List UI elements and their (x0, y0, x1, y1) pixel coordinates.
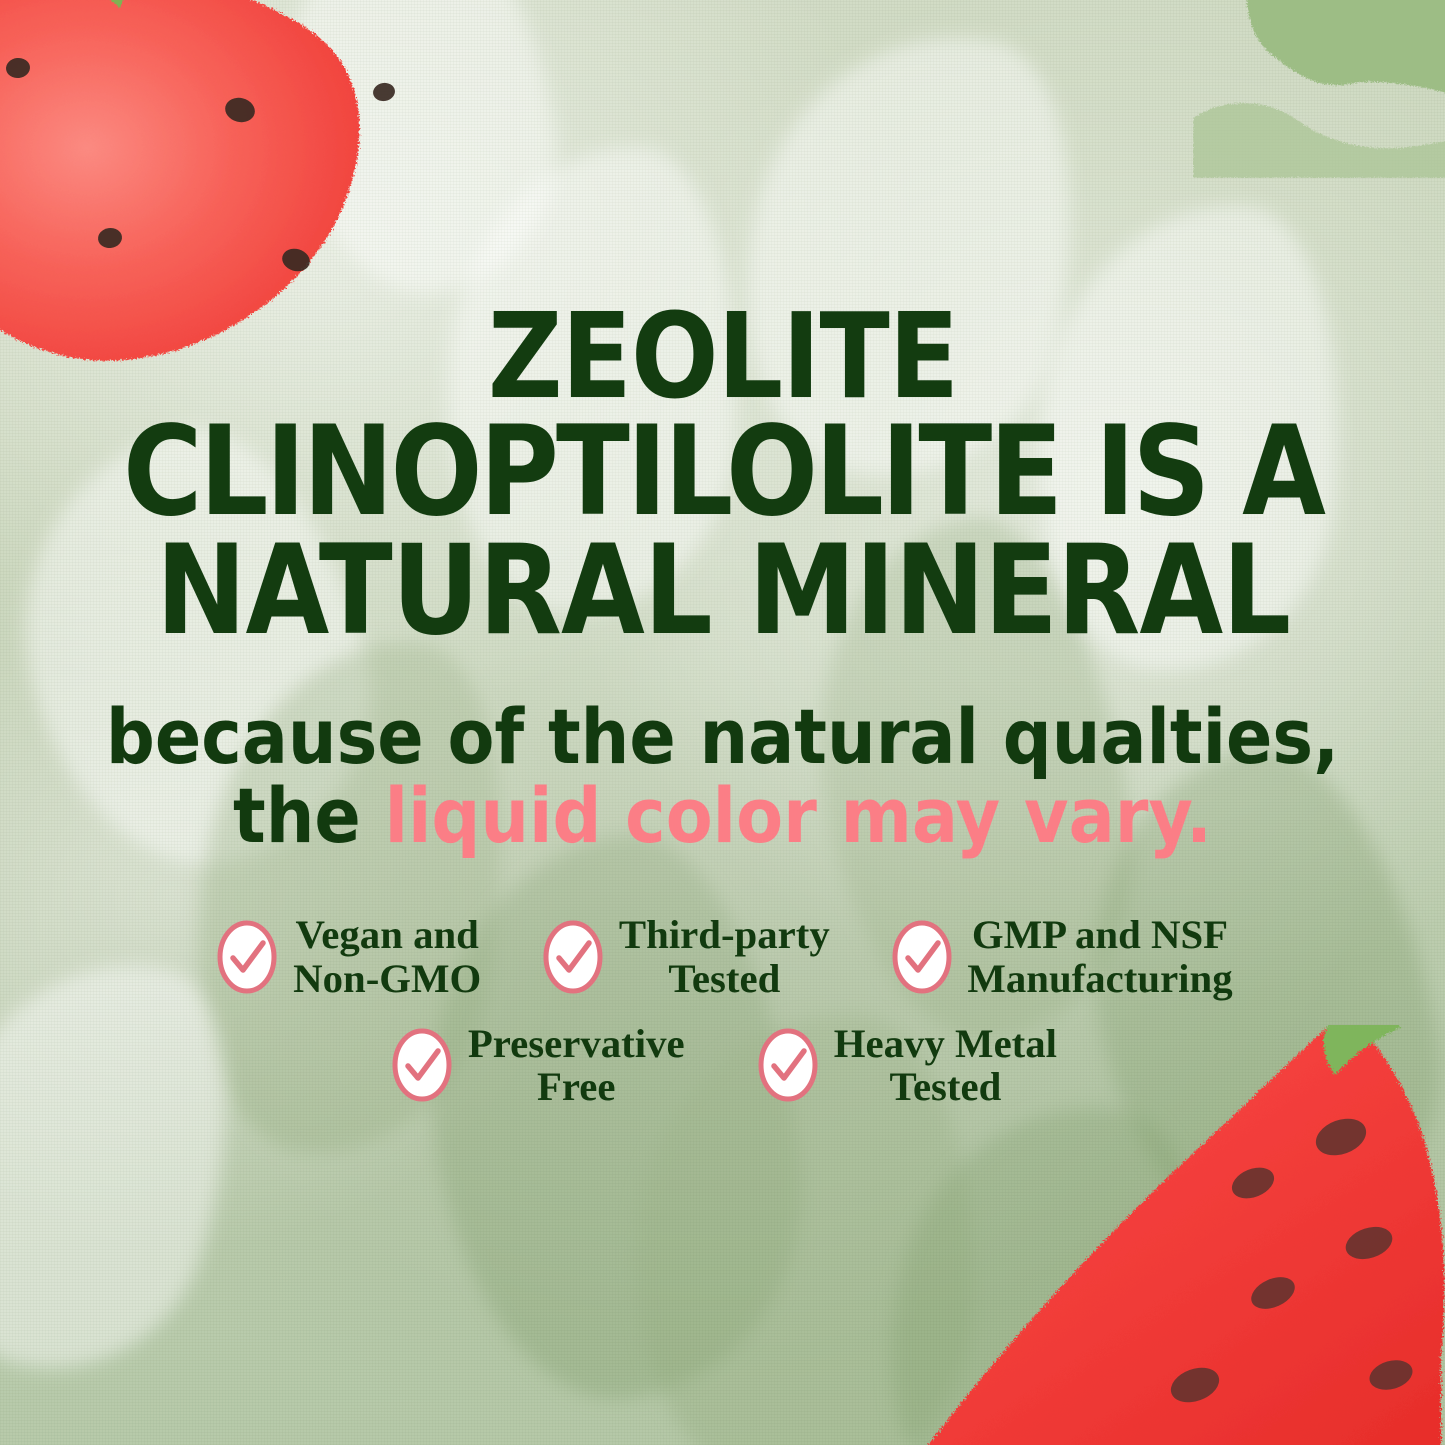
feature-badge-row-2: Preservative Free Heavy Metal Tested (390, 1022, 1055, 1108)
badge-third-party-tested[interactable]: Third-party Tested (541, 913, 828, 999)
poster-content: ZEOLITE CLINOPTILOLITE IS A NATURAL MINE… (0, 0, 1445, 1445)
subheadline: because of the natural qualties, the liq… (78, 697, 1368, 855)
feature-badge-row-1: Vegan and Non-GMO Third-party Tested GMP… (215, 913, 1230, 999)
badge-label: Heavy Metal Tested (834, 1022, 1057, 1108)
page-title: ZEOLITE CLINOPTILOLITE IS A NATURAL MINE… (73, 300, 1373, 651)
subheadline-line-1: because of the natural qualties, (78, 697, 1368, 776)
headline-line-2: CLINOPTILOLITE IS A (73, 413, 1373, 532)
badge-gmp-and-nsf-manufacturing[interactable]: GMP and NSF Manufacturing (890, 913, 1230, 999)
check-circle-icon (541, 918, 605, 996)
badge-preservative-free[interactable]: Preservative Free (390, 1022, 682, 1108)
subheadline-accent: liquid color may vary. (385, 771, 1212, 860)
badge-label: Third-party Tested (619, 913, 830, 999)
headline-line-3: NATURAL MINERAL (73, 532, 1373, 651)
badge-vegan-and-non-gmo[interactable]: Vegan and Non-GMO (215, 913, 479, 999)
product-infographic-poster: ZEOLITE CLINOPTILOLITE IS A NATURAL MINE… (0, 0, 1445, 1445)
check-circle-icon (756, 1026, 820, 1104)
badge-label: Vegan and Non-GMO (293, 913, 481, 999)
check-circle-icon (890, 918, 954, 996)
subheadline-prefix: the (233, 771, 385, 860)
headline-line-1: ZEOLITE (73, 300, 1373, 413)
badge-label: GMP and NSF Manufacturing (967, 913, 1232, 999)
badge-label: Preservative Free (468, 1022, 685, 1108)
subheadline-line-2: the liquid color may vary. (78, 776, 1368, 855)
check-circle-icon (215, 918, 279, 996)
feature-badge-group: Vegan and Non-GMO Third-party Tested GMP… (58, 913, 1388, 1108)
check-circle-icon (390, 1026, 454, 1104)
badge-heavy-metal-tested[interactable]: Heavy Metal Tested (756, 1022, 1055, 1108)
